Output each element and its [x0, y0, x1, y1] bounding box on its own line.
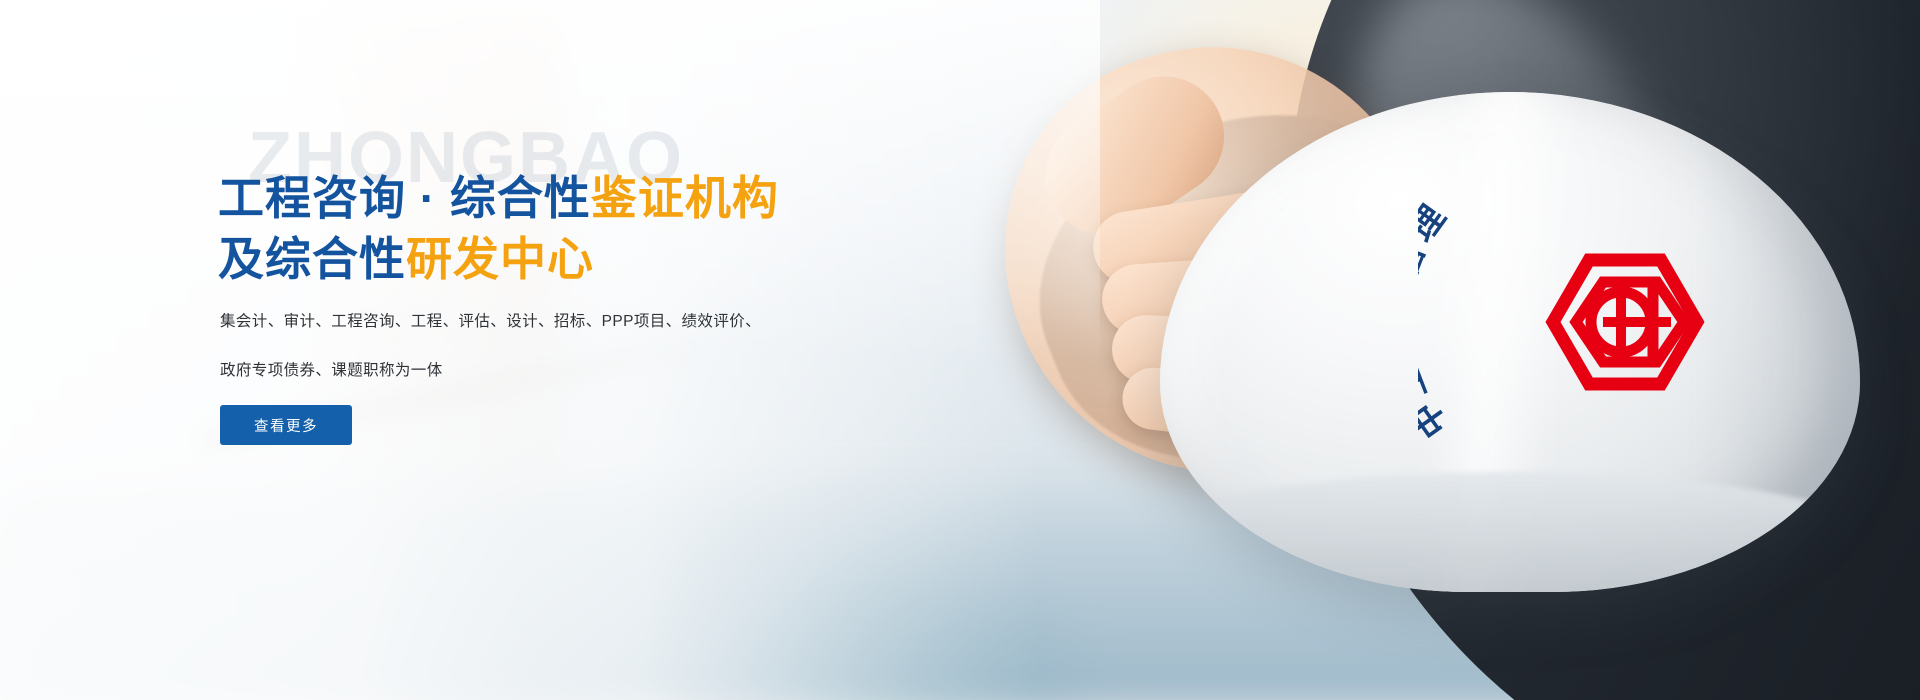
hero-description: 集会计、审计、工程咨询、工程、评估、设计、招标、PPP项目、绩效评价、 政府专项… — [220, 310, 820, 409]
helmet-brand-textpath: 中宝工程管理 — [1418, 195, 1456, 444]
helmet-brim — [1160, 472, 1860, 592]
svg-text:中宝工程管理: 中宝工程管理 — [1418, 195, 1456, 444]
hero-banner: 中宝工程管理 ZHONGBAO 工程 — [0, 0, 1920, 700]
headline-line-1-blue: 工程咨询 · 综合性 — [218, 172, 591, 224]
zhongbao-hexagon-logo — [1545, 250, 1705, 394]
view-more-button[interactable]: 查看更多 — [220, 405, 352, 445]
headline-line-2: 及综合性研发中心 — [218, 229, 978, 290]
headline-line-2-orange: 研发中心 — [406, 233, 594, 285]
headline-line-2-blue: 及综合性 — [218, 233, 406, 285]
hero-headline: 工程咨询 · 综合性鉴证机构 及综合性研发中心 — [218, 168, 978, 290]
description-line-2: 政府专项债券、课题职称为一体 — [220, 359, 820, 382]
headline-line-1: 工程咨询 · 综合性鉴证机构 — [218, 168, 978, 229]
headline-line-1-orange: 鉴证机构 — [591, 172, 779, 224]
description-line-1: 集会计、审计、工程咨询、工程、评估、设计、招标、PPP项目、绩效评价、 — [220, 310, 820, 333]
hero-content: ZHONGBAO 工程咨询 · 综合性鉴证机构 及综合性研发中心 集会计、审计、… — [218, 0, 978, 700]
